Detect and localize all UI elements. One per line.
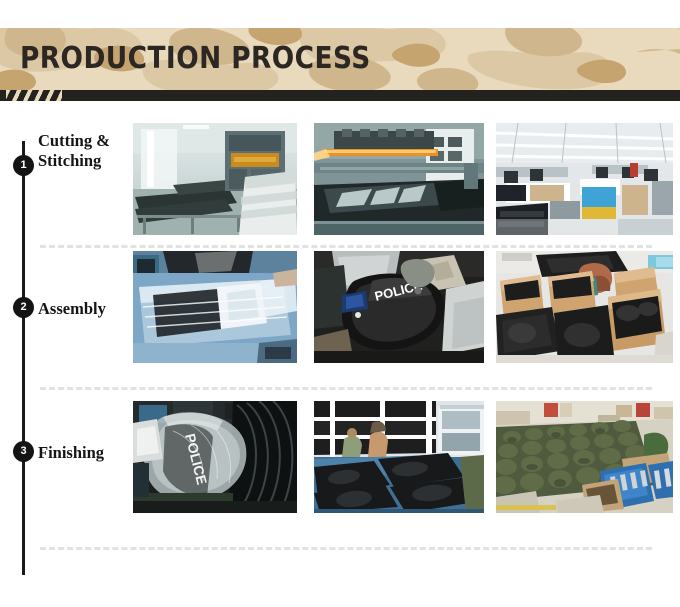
thumb-boxed-black-components[interactable]	[496, 251, 673, 363]
step-3-thumbnails: POLICE	[133, 401, 673, 551]
process-step-row: 1 Cutting & Stitching	[0, 101, 680, 251]
thumb-olive-helmets-and-hardware-crates[interactable]	[496, 401, 673, 513]
process-step-row: 2 Assembly	[0, 251, 680, 401]
step-label-finishing: Finishing	[38, 443, 130, 463]
row-divider	[40, 387, 652, 390]
page-banner: PRODUCTION PROCESS	[0, 28, 680, 90]
row-divider	[40, 547, 652, 550]
thumb-sewing-workshop-floor[interactable]	[496, 123, 673, 235]
step-number-badge-1: 1	[13, 155, 34, 176]
thumb-cutting-tables-press-machine[interactable]	[133, 123, 297, 235]
thumb-police-riot-helmet-assembly[interactable]: POLICE	[314, 251, 484, 363]
step-number-badge-2: 2	[13, 297, 34, 318]
step-label-cutting-stitching: Cutting & Stitching	[38, 131, 130, 171]
page-title: PRODUCTION PROCESS	[20, 44, 371, 74]
thumb-wrapped-police-riot-shield[interactable]: POLICE	[133, 401, 297, 513]
step-label-assembly: Assembly	[38, 299, 130, 319]
thumb-heat-press-machine[interactable]	[314, 123, 484, 235]
thumb-finishing-inspection-table[interactable]	[314, 401, 484, 513]
process-step-row: 3 Finishing	[0, 401, 680, 561]
process-step-list: 1 Cutting & Stitching	[0, 101, 680, 561]
banner-accent-bar	[0, 90, 680, 101]
thumb-clear-shield-visors-on-table[interactable]	[133, 251, 297, 363]
step-number-badge-3: 3	[13, 441, 34, 462]
process-content: 1 Cutting & Stitching	[0, 101, 680, 607]
step-2-thumbnails: POLICE	[133, 251, 673, 401]
diagonal-stripes-icon	[6, 90, 62, 101]
row-divider	[40, 245, 652, 248]
